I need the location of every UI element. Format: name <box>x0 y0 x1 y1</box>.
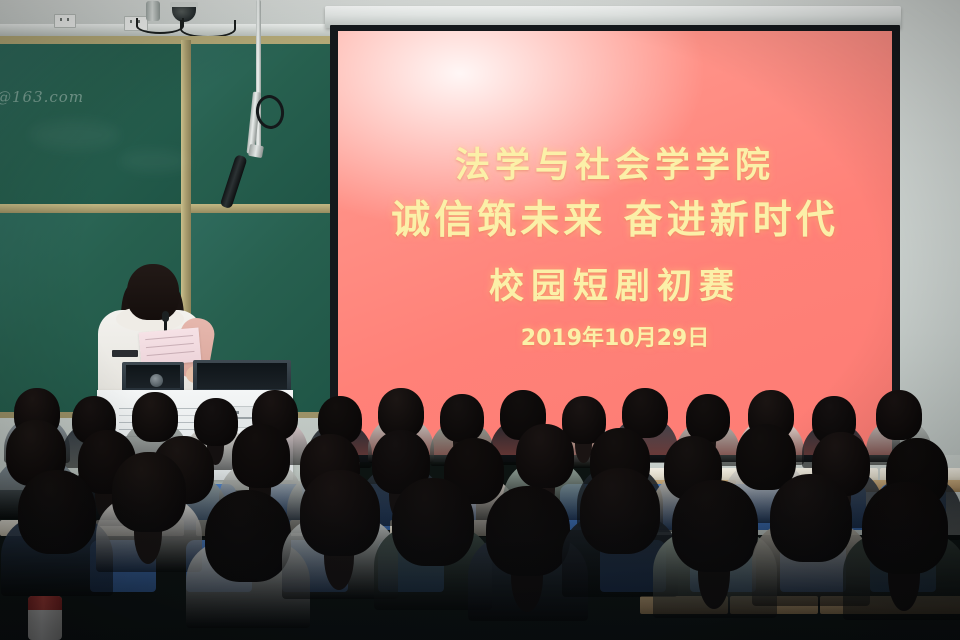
slide-date: 2019年10月29日 <box>338 328 892 350</box>
audience-member <box>876 390 922 440</box>
chalk-smudge <box>30 120 120 150</box>
chalkboard-rail <box>0 204 340 213</box>
audience-member <box>686 394 730 442</box>
thermos-bottle <box>28 596 62 640</box>
chalkboard-writing: @163.com <box>0 88 84 106</box>
presenter-script <box>139 327 202 366</box>
audience-member <box>132 392 178 442</box>
ceiling-cable <box>136 18 184 34</box>
presenter-logo <box>112 350 138 357</box>
slide-line-1: 法学与社会学学院 <box>338 149 892 185</box>
chalk-smudge <box>120 150 190 172</box>
audience-member <box>300 470 380 556</box>
audience-head <box>862 482 948 574</box>
audience-head <box>672 480 758 572</box>
audience-head <box>770 474 852 562</box>
audience-head <box>686 394 730 442</box>
lectern-monitor <box>193 360 291 393</box>
audience-head <box>205 490 291 582</box>
audience-head <box>300 470 380 556</box>
audience-member <box>18 470 96 554</box>
audience-head <box>516 424 574 488</box>
audience-head <box>18 470 96 554</box>
audience-member <box>580 468 660 554</box>
audience-member <box>862 482 948 574</box>
audience-member <box>486 486 570 576</box>
audience-member <box>232 424 290 488</box>
audience-member <box>112 452 186 532</box>
audience-member <box>770 474 852 562</box>
microphone-clamp <box>248 144 264 158</box>
audience-member <box>440 394 484 442</box>
audience-head <box>392 478 474 566</box>
audience-head <box>580 468 660 554</box>
power-socket <box>54 14 76 28</box>
audience-head <box>132 392 178 442</box>
audience-head <box>876 390 922 440</box>
presenter-hair <box>127 264 179 320</box>
slide-line-3: 校园短剧初赛 <box>338 270 892 306</box>
audience-member <box>205 490 291 582</box>
audience-head <box>232 424 290 488</box>
audience-member <box>672 480 758 572</box>
audience-head <box>486 486 570 576</box>
audience-member <box>516 424 574 488</box>
lecture-hall-photo: @163.com 法学与社会学学院 诚信筑未来 奋进新时代 校园短剧初赛 201… <box>0 0 960 640</box>
audience-head <box>440 394 484 442</box>
audience-member <box>392 478 474 566</box>
audience-head <box>112 452 186 532</box>
lectern-monitor <box>122 362 184 392</box>
slide-line-2: 诚信筑未来 奋进新时代 <box>338 201 892 241</box>
